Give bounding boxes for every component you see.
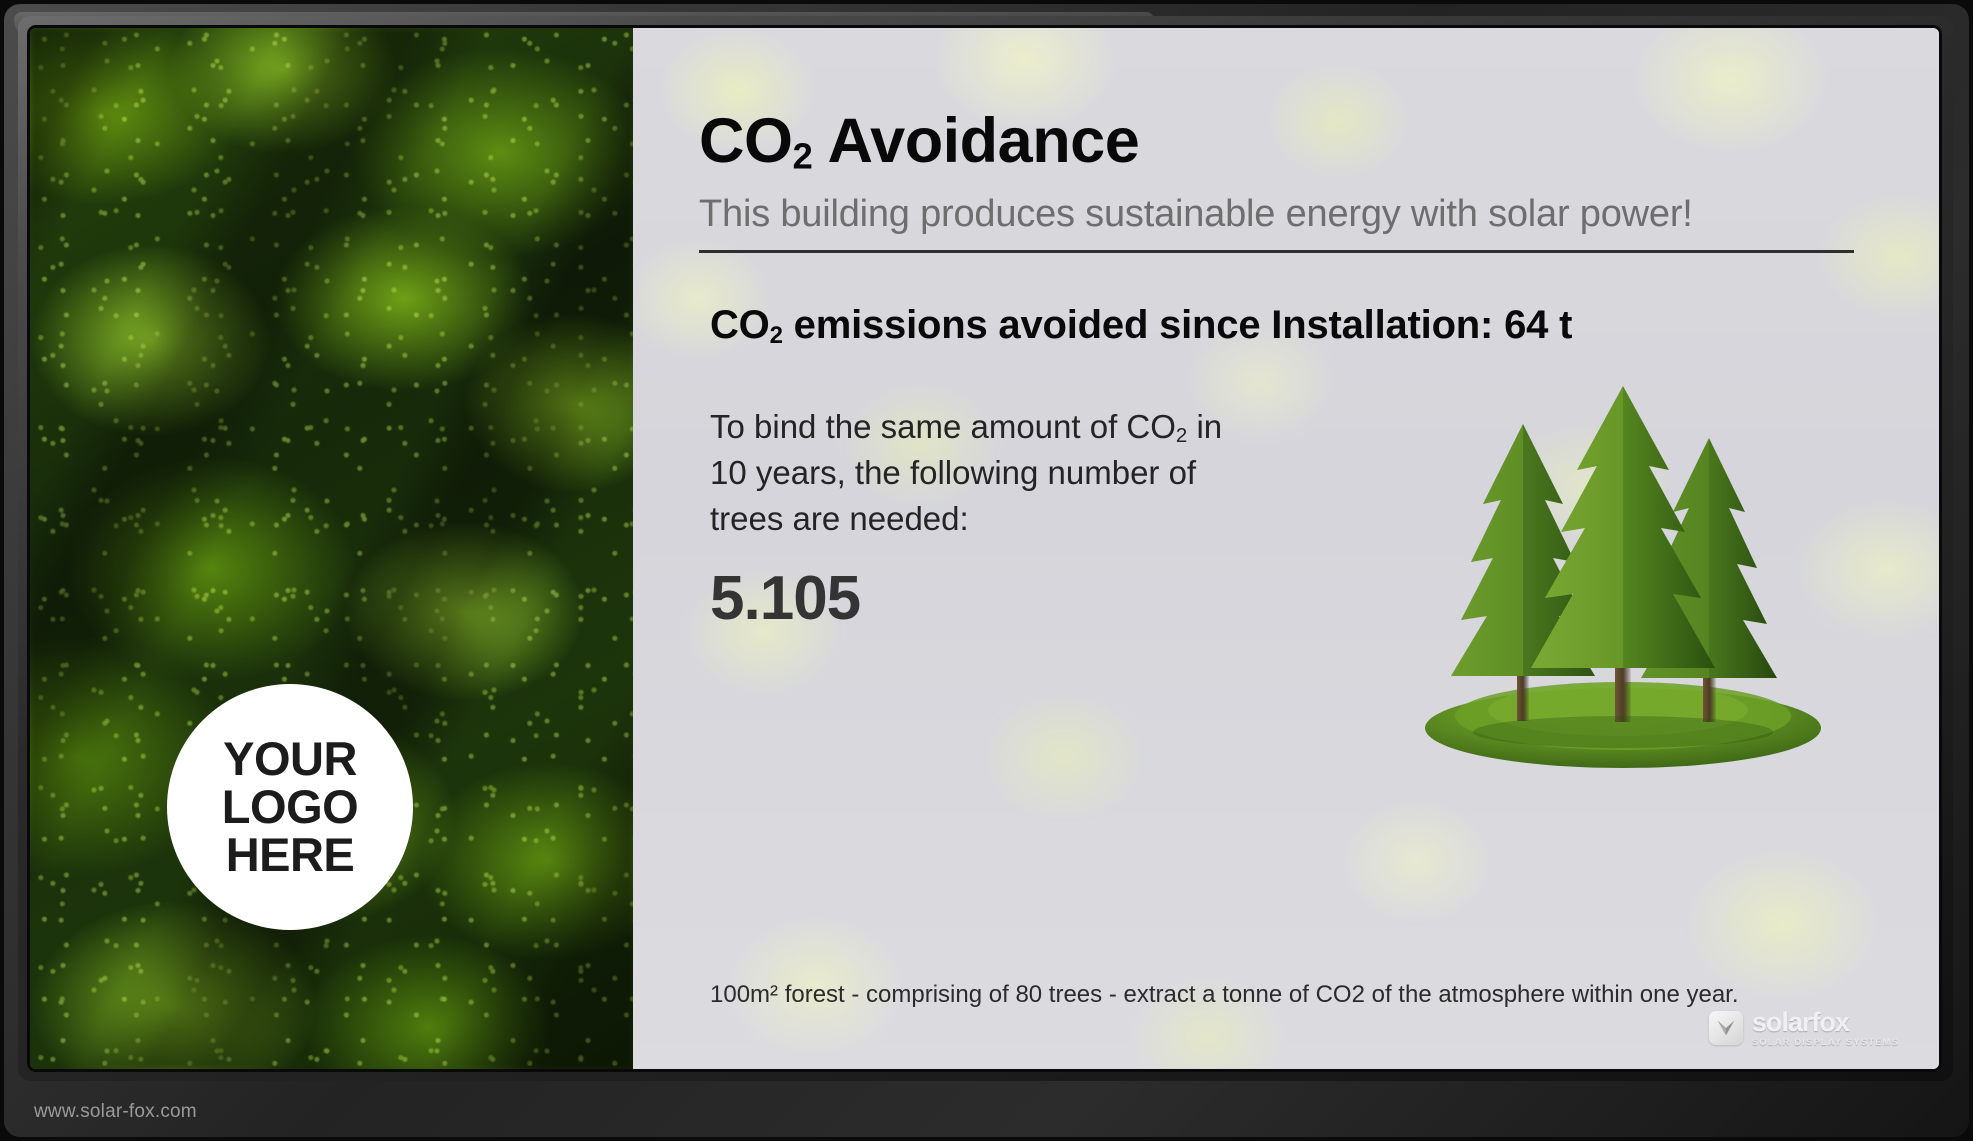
monitor-outer-frame: YOUR LOGO HERE CO2 Avoidance This buildi… bbox=[4, 4, 1969, 1137]
shield-chevron-icon bbox=[1709, 1011, 1743, 1045]
page-subtitle: This building produces sustainable energ… bbox=[699, 193, 1939, 236]
site-url-label: www.solar-fox.com bbox=[34, 1101, 197, 1123]
headline-subscript-2: 2 bbox=[770, 322, 783, 349]
right-content-panel: CO2 Avoidance This building produces sus… bbox=[633, 28, 1939, 1069]
customer-logo-placeholder[interactable]: YOUR LOGO HERE bbox=[167, 684, 413, 930]
footnote-text: 100m² forest - comprising of 80 trees - … bbox=[710, 976, 1850, 1013]
logo-line-3: HERE bbox=[226, 831, 355, 879]
logo-line-1: YOUR bbox=[223, 735, 357, 783]
body-line-3: trees are needed: bbox=[710, 500, 969, 537]
trees-illustration bbox=[1413, 376, 1833, 776]
title-subscript-2: 2 bbox=[793, 136, 813, 177]
header-divider bbox=[699, 250, 1854, 253]
emissions-headline: CO2 emissions avoided since Installation… bbox=[710, 303, 1939, 350]
solarfox-logo: solarfox SOLAR DISPLAY SYSTEMS bbox=[1709, 1009, 1899, 1048]
body-line-1b: in bbox=[1187, 408, 1222, 445]
brand-name: solarfox bbox=[1752, 1009, 1899, 1036]
body-line-1a: To bind the same amount of CO bbox=[710, 408, 1176, 445]
headline-co-text: CO bbox=[710, 303, 770, 347]
title-remainder: Avoidance bbox=[813, 106, 1139, 176]
brand-tagline: SOLAR DISPLAY SYSTEMS bbox=[1752, 1038, 1899, 1048]
logo-line-2: LOGO bbox=[222, 783, 358, 831]
body-subscript-2: 2 bbox=[1176, 424, 1187, 447]
explanation-text: To bind the same amount of CO2 in 10 yea… bbox=[710, 404, 1330, 541]
display-screen: YOUR LOGO HERE CO2 Avoidance This buildi… bbox=[30, 28, 1939, 1069]
left-forest-panel: YOUR LOGO HERE bbox=[30, 28, 633, 1069]
headline-remainder: emissions avoided since Installation: 64… bbox=[783, 303, 1572, 347]
title-co-text: CO bbox=[699, 106, 793, 176]
monitor-device: YOUR LOGO HERE CO2 Avoidance This buildi… bbox=[0, 0, 1973, 1141]
solarfox-wordmark: solarfox SOLAR DISPLAY SYSTEMS bbox=[1752, 1009, 1899, 1048]
page-title: CO2 Avoidance bbox=[699, 110, 1939, 175]
body-line-2: 10 years, the following number of bbox=[710, 454, 1196, 491]
